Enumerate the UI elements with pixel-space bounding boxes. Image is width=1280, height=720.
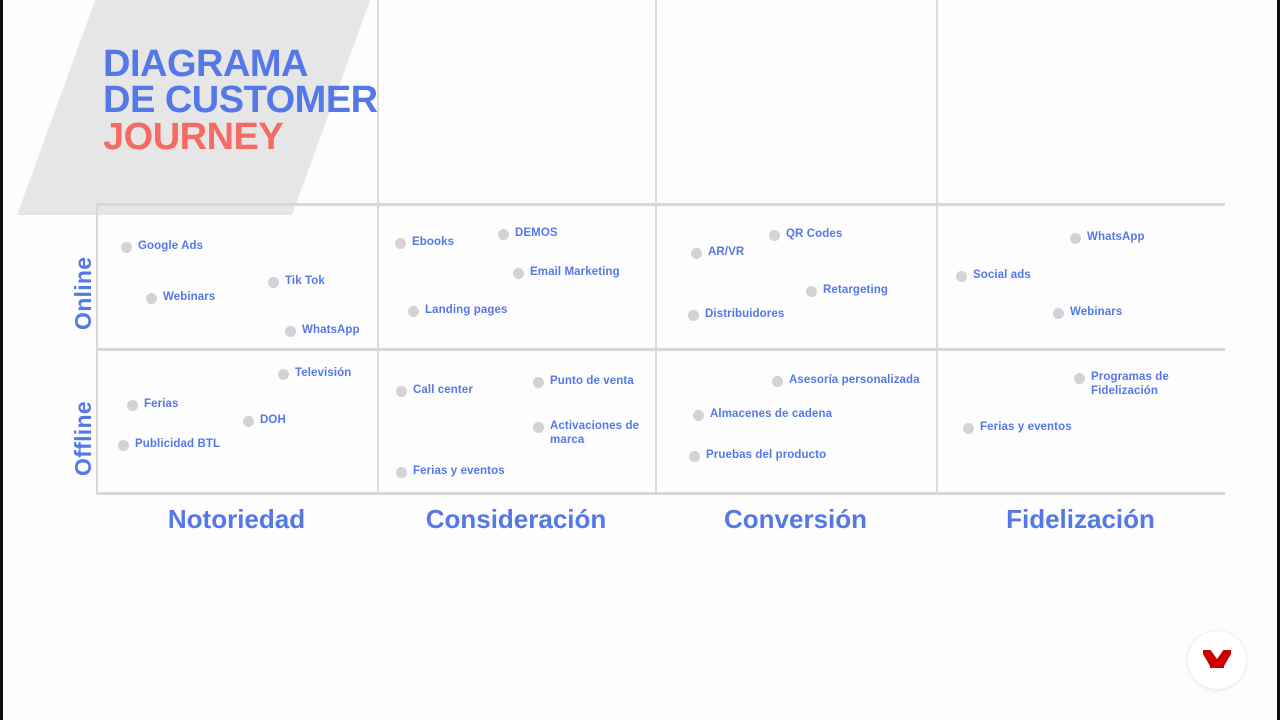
touchpoint-label: Publicidad BTL: [135, 438, 220, 452]
touchpoint-dot-icon: [689, 451, 700, 462]
touchpoint-label: DEMOS: [515, 227, 558, 241]
matrix-grid: [96, 203, 1225, 495]
touchpoint-dot-icon: [1053, 308, 1064, 319]
touchpoint-label: Activaciones de marca: [550, 420, 653, 447]
touchpoint[interactable]: Publicidad BTL: [118, 438, 220, 452]
touchpoint[interactable]: DEMOS: [498, 227, 558, 241]
row-label-online: Online: [70, 257, 97, 330]
touchpoint-dot-icon: [1070, 233, 1081, 244]
touchpoint[interactable]: QR Codes: [769, 228, 842, 242]
touchpoint[interactable]: Almacenes de cadena: [693, 408, 832, 422]
touchpoint-label: Call center: [413, 384, 473, 398]
touchpoint[interactable]: Google Ads: [121, 240, 203, 254]
touchpoint-label: DOH: [260, 414, 286, 428]
touchpoint[interactable]: AR/VR: [691, 246, 744, 260]
touchpoint[interactable]: Call center: [396, 384, 473, 398]
touchpoint-dot-icon: [688, 310, 699, 321]
touchpoint-label: WhatsApp: [302, 324, 360, 338]
touchpoint-dot-icon: [146, 293, 157, 304]
grid-hline-bottom: [96, 492, 1225, 495]
touchpoint-label: Pruebas del producto: [706, 449, 826, 463]
touchpoint[interactable]: Landing pages: [408, 304, 507, 318]
touchpoint-label: Tik Tok: [285, 275, 325, 289]
touchpoint[interactable]: Punto de venta: [533, 375, 634, 389]
touchpoint-dot-icon: [396, 467, 407, 478]
touchpoint-dot-icon: [772, 376, 783, 387]
touchpoint[interactable]: Ferias: [127, 398, 178, 412]
touchpoint-label: Webinars: [163, 291, 215, 305]
touchpoint-dot-icon: [533, 422, 544, 433]
touchpoint-dot-icon: [693, 410, 704, 421]
touchpoint-dot-icon: [408, 306, 419, 317]
diagram-canvas: DIAGRAMA DE CUSTOMER JOURNEY Online Offl…: [0, 0, 1280, 720]
column-label-conversion: Conversión: [655, 504, 936, 535]
touchpoint-dot-icon: [806, 286, 817, 297]
touchpoint-label: Webinars: [1070, 306, 1122, 320]
touchpoint[interactable]: Ferias y eventos: [396, 465, 505, 479]
touchpoint-dot-icon: [533, 377, 544, 388]
touchpoint-dot-icon: [513, 268, 524, 279]
touchpoint[interactable]: Retargeting: [806, 284, 888, 298]
touchpoint[interactable]: Ebooks: [395, 236, 454, 250]
touchpoint[interactable]: Televisión: [278, 367, 351, 381]
touchpoint[interactable]: Email Marketing: [513, 266, 620, 280]
touchpoint-label: QR Codes: [786, 228, 842, 242]
column-label-notoriedad: Notoriedad: [96, 504, 377, 535]
touchpoint-label: Landing pages: [425, 304, 507, 318]
touchpoint[interactable]: DOH: [243, 414, 286, 428]
touchpoint[interactable]: Ferias y eventos: [963, 421, 1072, 435]
touchpoint[interactable]: Activaciones de marca: [533, 420, 653, 447]
touchpoint-label: Punto de venta: [550, 375, 634, 389]
touchpoint[interactable]: WhatsApp: [285, 324, 360, 338]
touchpoint-label: AR/VR: [708, 246, 744, 260]
touchpoint[interactable]: Tik Tok: [268, 275, 325, 289]
touchpoint-dot-icon: [1074, 373, 1085, 384]
title-line-2: DE CUSTOMER: [103, 82, 378, 118]
title-line-1: DIAGRAMA: [103, 46, 378, 82]
touchpoint-dot-icon: [243, 416, 254, 427]
touchpoint-label: Ferias: [144, 398, 178, 412]
touchpoint[interactable]: WhatsApp: [1070, 231, 1145, 245]
column-label-consideracion: Consideración: [377, 504, 655, 535]
touchpoint-dot-icon: [956, 271, 967, 282]
brand-logo[interactable]: [1188, 631, 1246, 689]
touchpoint-dot-icon: [691, 248, 702, 259]
page-title: DIAGRAMA DE CUSTOMER JOURNEY: [103, 46, 378, 155]
touchpoint-dot-icon: [285, 326, 296, 337]
touchpoint[interactable]: Programas de Fidelización: [1074, 371, 1194, 398]
touchpoint-dot-icon: [395, 238, 406, 249]
touchpoint-dot-icon: [118, 440, 129, 451]
touchpoint[interactable]: Pruebas del producto: [689, 449, 826, 463]
row-label-offline: Offline: [70, 401, 97, 476]
touchpoint-label: WhatsApp: [1087, 231, 1145, 245]
touchpoint-label: Asesoría personalizada: [789, 374, 920, 388]
touchpoint-label: Programas de Fidelización: [1091, 371, 1194, 398]
touchpoint[interactable]: Distribuidores: [688, 308, 784, 322]
screen-edge-left: [0, 0, 3, 720]
touchpoint-label: Google Ads: [138, 240, 203, 254]
touchpoint-dot-icon: [498, 229, 509, 240]
touchpoint-label: Ebooks: [412, 236, 454, 250]
touchpoint-label: Ferias y eventos: [413, 465, 505, 479]
touchpoint-label: Distribuidores: [705, 308, 784, 322]
touchpoint-label: Retargeting: [823, 284, 888, 298]
touchpoint-dot-icon: [769, 230, 780, 241]
touchpoint[interactable]: Webinars: [146, 291, 215, 305]
touchpoint-dot-icon: [268, 277, 279, 288]
touchpoint-label: Email Marketing: [530, 266, 620, 280]
grid-hline-top: [96, 203, 1225, 206]
touchpoint-label: Social ads: [973, 269, 1031, 283]
grid-hline-middle: [96, 348, 1225, 351]
touchpoint-dot-icon: [121, 242, 132, 253]
title-line-3: JOURNEY: [103, 119, 378, 155]
touchpoint-dot-icon: [278, 369, 289, 380]
column-label-fidelizacion: Fidelización: [936, 504, 1225, 535]
touchpoint[interactable]: Social ads: [956, 269, 1031, 283]
touchpoint-dot-icon: [963, 423, 974, 434]
touchpoint[interactable]: Asesoría personalizada: [772, 374, 920, 388]
crown-icon: [1202, 648, 1232, 672]
touchpoint-label: Almacenes de cadena: [710, 408, 832, 422]
touchpoint-dot-icon: [396, 386, 407, 397]
touchpoint-label: Televisión: [295, 367, 351, 381]
touchpoint[interactable]: Webinars: [1053, 306, 1122, 320]
touchpoint-dot-icon: [127, 400, 138, 411]
touchpoint-label: Ferias y eventos: [980, 421, 1072, 435]
